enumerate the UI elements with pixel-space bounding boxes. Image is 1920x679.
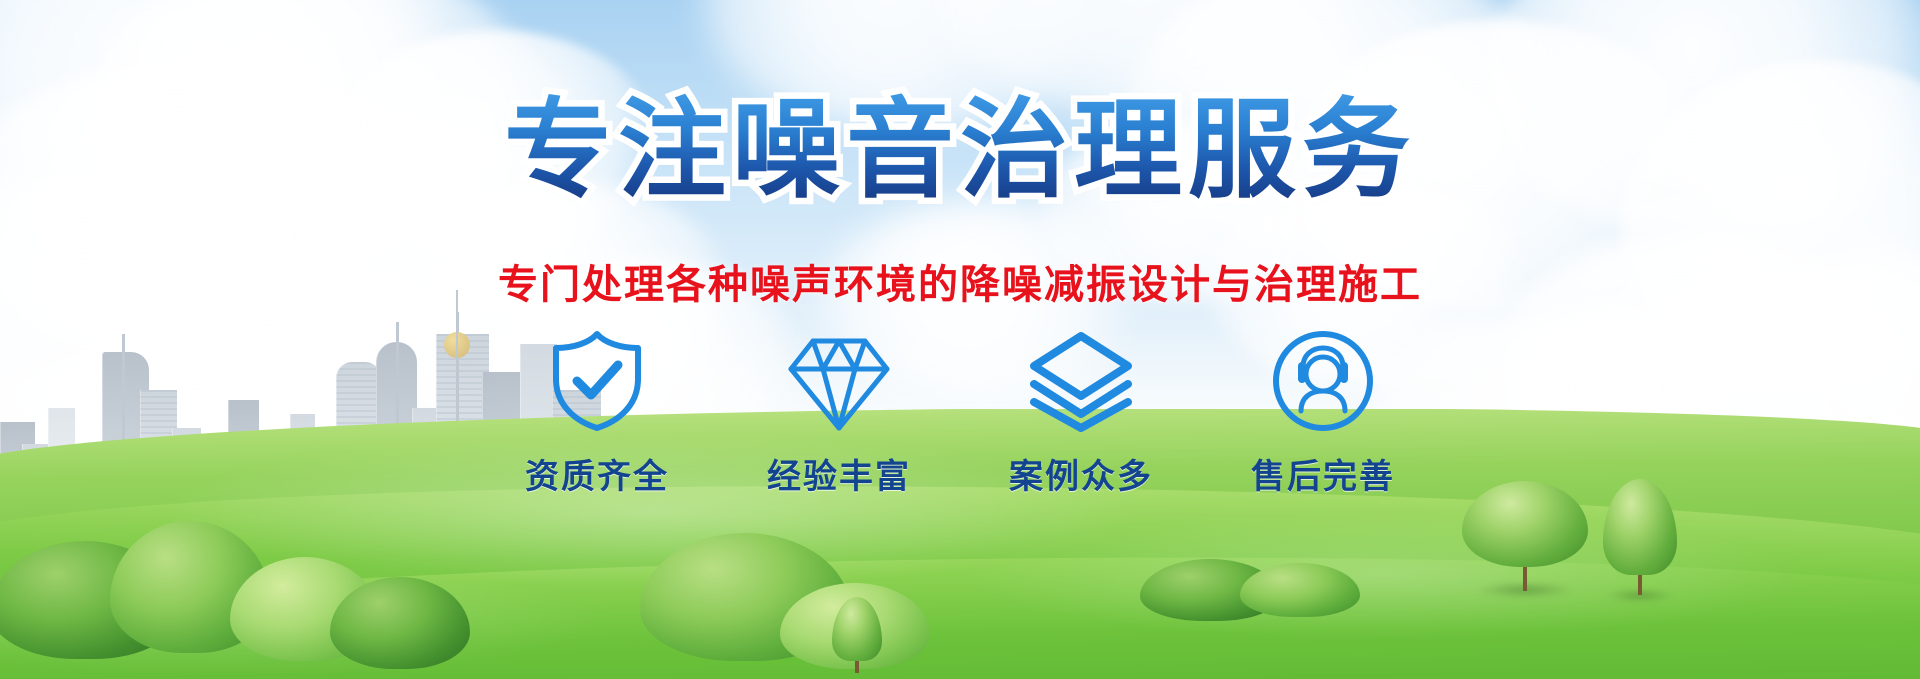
feature-item-experience[interactable]: 经验丰富: [739, 325, 939, 498]
feature-item-cases[interactable]: 案例众多: [981, 325, 1181, 498]
feature-item-aftersales[interactable]: 售后完善: [1223, 325, 1423, 498]
page-title: 专注噪音治理服务: [0, 92, 1920, 209]
feature-label: 经验丰富: [767, 449, 911, 498]
lawn-tree: [830, 597, 884, 673]
headset-support-icon: [1267, 325, 1379, 437]
hero-banner: 专注噪音治理服务 专注噪音治理服务 专门处理各种噪声环境的降噪减振设计与治理施工…: [0, 0, 1920, 679]
diamond-icon: [783, 325, 895, 437]
feature-item-qualification[interactable]: 资质齐全: [497, 325, 697, 498]
feature-label: 资质齐全: [525, 449, 669, 498]
page-subtitle: 专门处理各种噪声环境的降噪减振设计与治理施工: [0, 252, 1920, 310]
shield-check-icon: [541, 325, 653, 437]
feature-label: 案例众多: [1009, 449, 1153, 498]
feature-list: 资质齐全 经验丰富 案例众多: [0, 325, 1920, 498]
feature-label: 售后完善: [1251, 449, 1395, 498]
layers-stack-icon: [1025, 325, 1137, 437]
